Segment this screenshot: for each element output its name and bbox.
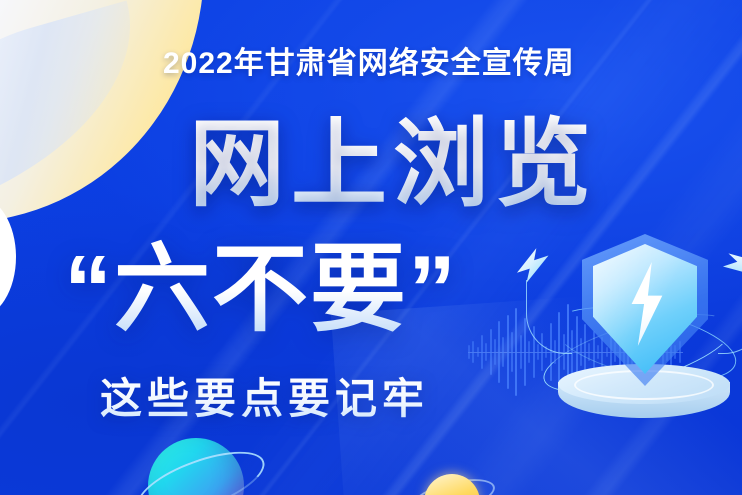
headline-quoted: “六不要” (64, 236, 458, 344)
subtitle: 这些要点要记牢 (100, 372, 429, 426)
poster-canvas: 2022年甘肃省网络安全宣传周 网上浏览 “六不要” 这些要点要记牢 (0, 0, 742, 495)
event-title: 2022年甘肃省网络安全宣传周 (163, 44, 575, 84)
text-content: 2022年甘肃省网络安全宣传周 网上浏览 “六不要” 这些要点要记牢 (0, 0, 742, 495)
headline-primary: 网上浏览 (189, 110, 597, 220)
